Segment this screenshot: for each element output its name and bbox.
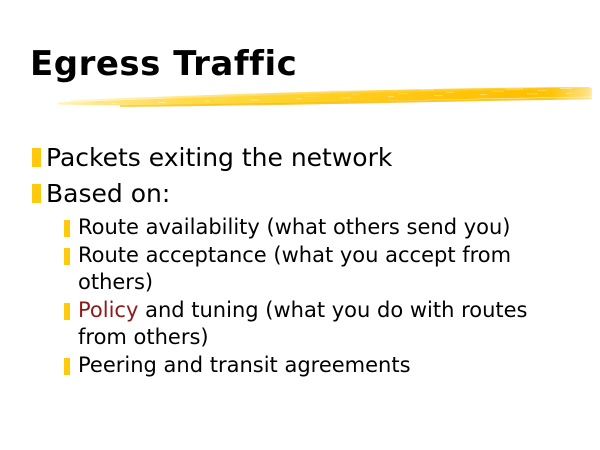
bullet-text: Packets exiting the network — [46, 142, 392, 174]
sub-bullet-text-rest: and tuning (what you do with routes from… — [78, 298, 528, 349]
gold-bar-bullet-icon — [64, 303, 70, 320]
gold-square-bullet-icon — [32, 184, 41, 203]
presentation-slide: Egress Traffic — [0, 0, 600, 450]
gold-square-bullet-icon — [32, 148, 41, 167]
highlighted-term-policy: Policy — [78, 298, 138, 322]
gold-bar-bullet-icon — [64, 248, 70, 265]
gold-bar-bullet-icon — [64, 220, 70, 237]
title-block: Egress Traffic — [30, 44, 575, 90]
sub-bullet-list: Route availability (what others send you… — [32, 214, 588, 379]
sub-bullet-text: Route availability (what others send you… — [78, 214, 510, 241]
bullet-list: Packets exiting the network Based on: Ro… — [32, 142, 588, 380]
sub-bullet-text: Peering and transit agreements — [78, 352, 411, 379]
sub-bullet-item-peering-and-transit: Peering and transit agreements — [32, 352, 588, 379]
gold-bar-bullet-icon — [64, 358, 70, 375]
page-title: Egress Traffic — [30, 44, 575, 84]
sub-bullet-item-policy-and-tuning: Policy and tuning (what you do with rout… — [32, 297, 588, 351]
sub-bullet-text: Policy and tuning (what you do with rout… — [78, 297, 548, 351]
bullet-item-packets-exiting: Packets exiting the network — [32, 142, 588, 174]
sub-bullet-text: Route acceptance (what you accept from o… — [78, 242, 548, 296]
sub-bullet-item-route-availability: Route availability (what others send you… — [32, 214, 588, 241]
sub-bullet-item-route-acceptance: Route acceptance (what you accept from o… — [32, 242, 588, 296]
bullet-text: Based on: — [46, 178, 170, 210]
bullet-item-based-on: Based on: — [32, 178, 588, 210]
